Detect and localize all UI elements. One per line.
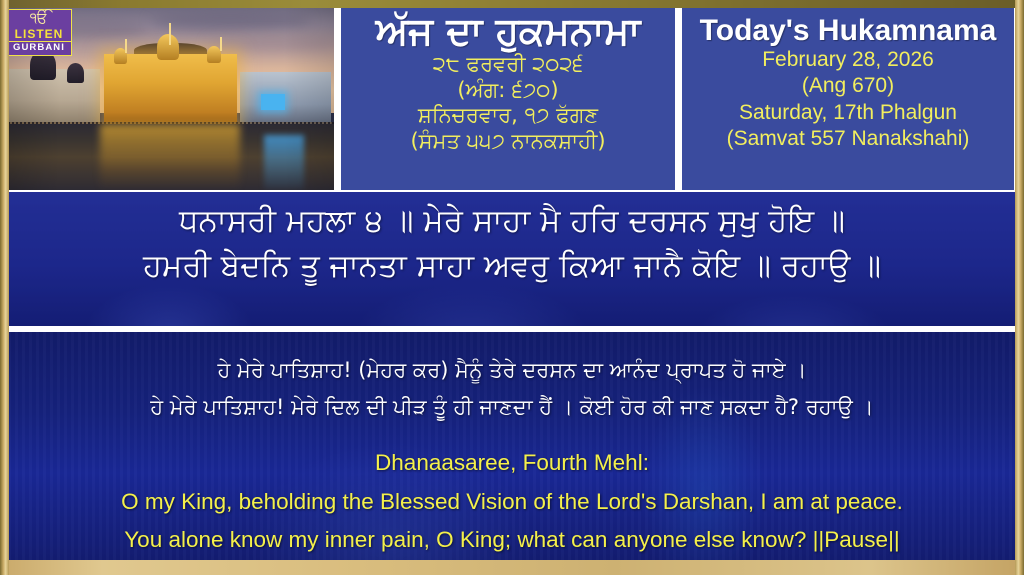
- hukamnama-poster: ੴ LISTEN GURBANI ਅੱਜ ਦਾ ਹੁਕਮਨਾਮਾ ੨੮ ਫਰਵਰ…: [0, 0, 1024, 575]
- punjabi-weekday: ਸ਼ਨਿਚਰਵਾਰ, ੧੭ ਫੱਗਣ: [418, 103, 598, 129]
- verse-line-2: ਹਮਰੀ ਬੇਦਨਿ ਤੂ ਜਾਨਤਾ ਸਾਹਾ ਅਵਰੁ ਕਿਆ ਜਾਨੈ ਕ…: [8, 243, 1016, 288]
- header-row: ੴ LISTEN GURBANI ਅੱਜ ਦਾ ਹੁਕਮਨਾਮਾ ੨੮ ਫਰਵਰ…: [0, 6, 1024, 190]
- english-translation-line-1: Dhanaasaree, Fourth Mehl:: [8, 423, 1016, 481]
- header-divider-right: [675, 6, 682, 190]
- ik-onkar-icon: ੴ: [7, 10, 71, 28]
- header-divider-left: [334, 6, 341, 190]
- english-translation-line-3: You alone know my inner pain, O King; wh…: [8, 520, 1016, 558]
- english-date: February 28, 2026: [762, 47, 934, 73]
- gurmukhi-verse-panel: ਧਨਾਸਰੀ ਮਹਲਾ ੪ ॥ ਮੇਰੇ ਸਾਹਾ ਮੈ ਹਰਿ ਦਰਸਨ ਸੁ…: [8, 192, 1016, 326]
- punjabi-translation-line-2: ਹੇ ਮੇਰੇ ਪਾਤਿਸ਼ਾਹ! ਮੇਰੇ ਦਿਲ ਦੀ ਪੀੜ ਤੂੰ ਹੀ…: [8, 387, 1016, 424]
- header-punjabi-panel: ਅੱਜ ਦਾ ਹੁਕਮਨਾਮਾ ੨੮ ਫਰਵਰੀ ੨੦੨੬ (ਅੰਗ: ੬੭੦)…: [341, 6, 675, 190]
- header-english-panel: Today's Hukamnama February 28, 2026 (Ang…: [682, 6, 1014, 190]
- frame-border-top: [0, 0, 1024, 8]
- frame-border-bottom: [0, 560, 1024, 575]
- verse-line-1: ਧਨਾਸਰੀ ਮਹਲਾ ੪ ॥ ਮੇਰੇ ਸਾਹਾ ਮੈ ਹਰਿ ਦਰਸਨ ਸੁ…: [8, 192, 1016, 243]
- punjabi-translation-line-1: ਹੇ ਮੇਰੇ ਪਾਤਿਸ਼ਾਹ! (ਮੇਹਰ ਕਰ) ਮੈਨੂੰ ਤੇਰੇ ਦ…: [8, 332, 1016, 387]
- punjabi-title: ਅੱਜ ਦਾ ਹੁਕਮਨਾਮਾ: [376, 12, 641, 52]
- punjabi-ang: (ਅੰਗ: ੬੭੦): [457, 78, 558, 104]
- logo-line-listen: LISTEN: [7, 28, 71, 41]
- logo-line-gurbani: GURBANI: [7, 41, 71, 55]
- listen-gurbani-logo[interactable]: ੴ LISTEN GURBANI: [6, 9, 72, 56]
- english-weekday: Saturday, 17th Phalgun: [739, 100, 957, 126]
- punjabi-samvat: (ਸੰਮਤ ੫੫੭ ਨਾਨਕਸ਼ਾਹੀ): [410, 129, 605, 155]
- translation-panel: ਹੇ ਮੇਰੇ ਪਾਤਿਸ਼ਾਹ! (ਮੇਹਰ ਕਰ) ਮੈਨੂੰ ਤੇਰੇ ਦ…: [8, 332, 1016, 560]
- english-samvat: (Samvat 557 Nanakshahi): [727, 126, 970, 152]
- english-title: Today's Hukamnama: [700, 14, 997, 47]
- golden-temple-photo: ੴ LISTEN GURBANI: [0, 6, 334, 190]
- frame-border-left: [0, 0, 9, 575]
- frame-border-right: [1015, 0, 1024, 575]
- english-ang: (Ang 670): [802, 73, 894, 99]
- punjabi-date: ੨੮ ਫਰਵਰੀ ੨੦੨੬: [433, 52, 583, 78]
- english-translation-line-2: O my King, beholding the Blessed Vision …: [8, 482, 1016, 520]
- divider-below-verse: [8, 326, 1016, 332]
